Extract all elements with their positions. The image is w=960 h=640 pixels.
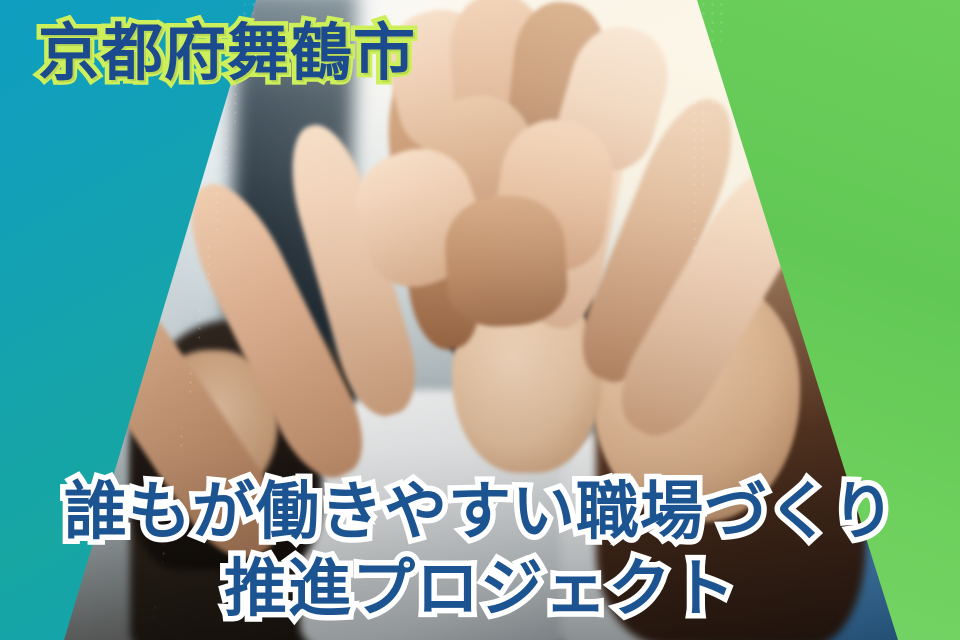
- promo-banner: 京都府舞鶴市 誰もが働きやすい職場づくり 推進プロジェクト: [0, 0, 960, 640]
- headline-line-2: 推進プロジェクト: [0, 551, 960, 628]
- headline: 誰もが働きやすい職場づくり 推進プロジェクト: [0, 474, 960, 628]
- headline-line-1: 誰もが働きやすい職場づくり: [0, 474, 960, 551]
- city-title: 京都府舞鶴市: [38, 20, 416, 85]
